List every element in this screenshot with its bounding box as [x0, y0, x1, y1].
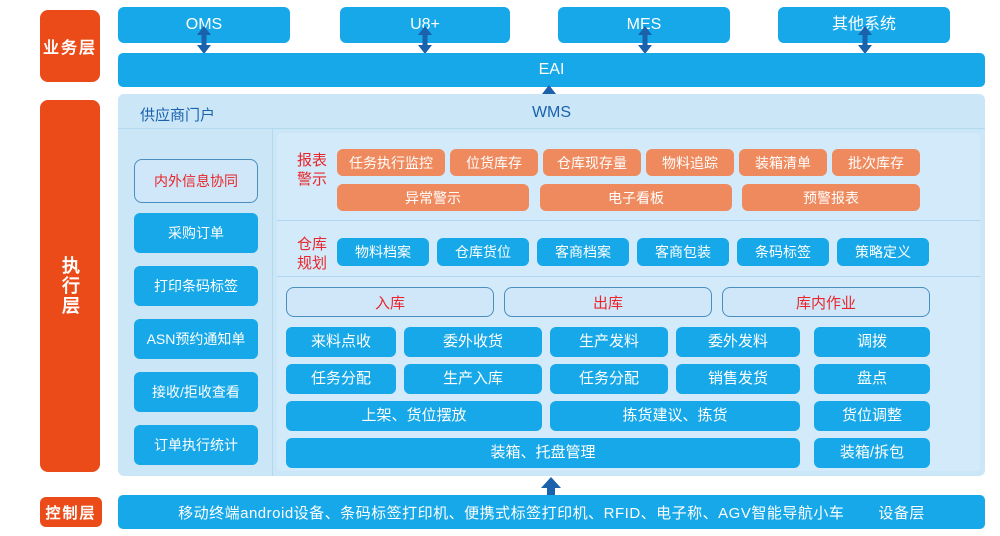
report-dashboard-label: 电子看板 — [608, 188, 664, 208]
ops-header-internal[interactable]: 库内作业 — [722, 287, 930, 317]
report-exception-alert[interactable]: 异常警示 — [337, 184, 529, 211]
report-material-tracking-label: 物料追踪 — [662, 153, 718, 173]
report-dashboard[interactable]: 电子看板 — [540, 184, 732, 211]
plan-warehouse-location-label: 仓库货位 — [455, 244, 511, 260]
control-layer-device-layer-label: 设备层 — [878, 502, 925, 523]
plan-customer-packaging-label: 客商包装 — [655, 244, 711, 260]
module-internal-external-coordination-label: 内外信息协同 — [154, 171, 238, 191]
op-putaway-placement-label: 上架、货位摆放 — [361, 407, 466, 424]
plan-barcode-label-text: 条码标签 — [755, 244, 811, 260]
section-label-warehouse-line1: 仓库 — [287, 236, 337, 255]
module-order-execution-stats[interactable]: 订单执行统计 — [134, 425, 258, 465]
module-order-execution-stats-label: 订单执行统计 — [154, 437, 238, 453]
op-incoming-receipt[interactable]: 来料点收 — [286, 327, 396, 357]
op-picking-suggestion[interactable]: 拣货建议、拣货 — [550, 401, 800, 431]
op-location-adjust-label: 货位调整 — [842, 407, 902, 424]
report-warehouse-stock-label: 仓库现存量 — [557, 153, 627, 173]
report-packing-list-label: 装箱清单 — [755, 153, 811, 173]
module-receive-reject-view-label: 接收/拒收查看 — [152, 384, 240, 400]
section-label-warehouse-planning: 仓库 规划 — [287, 236, 337, 274]
op-task-assign-outbound-label: 任务分配 — [579, 370, 639, 387]
op-pack-unpack-label: 装箱/拆包 — [840, 444, 904, 461]
report-warning-report[interactable]: 预警报表 — [742, 184, 920, 211]
plan-barcode-label[interactable]: 条码标签 — [737, 238, 829, 266]
op-production-inbound[interactable]: 生产入库 — [404, 364, 542, 394]
ops-header-inbound[interactable]: 入库 — [286, 287, 494, 317]
section-label-report-alert: 报表 警示 — [287, 152, 337, 190]
report-warehouse-stock[interactable]: 仓库现存量 — [543, 149, 641, 176]
double-arrow-icon-oms — [195, 25, 213, 51]
layer-tag-business-label: 业务层 — [43, 34, 97, 58]
plan-material-archive-label: 物料档案 — [355, 244, 411, 260]
op-incoming-receipt-label: 来料点收 — [311, 333, 371, 350]
op-transfer[interactable]: 调拨 — [814, 327, 930, 357]
ops-header-internal-label: 库内作业 — [796, 292, 856, 313]
report-batch-inventory[interactable]: 批次库存 — [832, 149, 920, 176]
op-sales-shipment-label: 销售发货 — [708, 370, 768, 387]
op-packing-pallet-management-label: 装箱、托盘管理 — [490, 444, 595, 461]
arrow-up-icon-control — [540, 477, 562, 495]
control-layer-devices-label: 移动终端android设备、条码标签打印机、便携式标签打印机、RFID、电子称、… — [178, 502, 844, 523]
op-outsourced-issue-label: 委外发料 — [708, 333, 768, 350]
module-purchase-order[interactable]: 采购订单 — [134, 213, 258, 253]
wms-title: WMS — [118, 104, 985, 122]
report-batch-inventory-label: 批次库存 — [848, 153, 904, 173]
double-arrow-icon-other — [856, 25, 874, 51]
op-production-issue[interactable]: 生产发料 — [550, 327, 668, 357]
module-asn-notice-label: ASN预约通知单 — [147, 331, 246, 347]
section-label-warehouse-line2: 规划 — [287, 255, 337, 274]
op-outsourced-receipt-label: 委外收货 — [443, 333, 503, 350]
double-arrow-icon-u8 — [416, 25, 434, 51]
panel-divider-vertical — [272, 128, 273, 476]
op-production-inbound-label: 生产入库 — [443, 370, 503, 387]
report-task-monitor-label: 任务执行监控 — [349, 153, 433, 173]
report-material-tracking[interactable]: 物料追踪 — [646, 149, 734, 176]
control-layer-bar[interactable]: 移动终端android设备、条码标签打印机、便携式标签打印机、RFID、电子称、… — [118, 495, 985, 529]
zone-separator-1 — [277, 220, 980, 221]
section-label-report-line2: 警示 — [287, 171, 337, 190]
plan-strategy-definition[interactable]: 策略定义 — [837, 238, 929, 266]
op-transfer-label: 调拨 — [857, 333, 887, 350]
report-task-monitor[interactable]: 任务执行监控 — [337, 149, 445, 176]
diagram-root: 业务层 执行层 控制层 OMS U8+ MES 其他系统 EAI 供应商门户 W… — [0, 0, 1000, 536]
plan-warehouse-location[interactable]: 仓库货位 — [437, 238, 529, 266]
report-warning-report-label: 预警报表 — [803, 188, 859, 208]
plan-material-archive[interactable]: 物料档案 — [337, 238, 429, 266]
report-location-inventory[interactable]: 位货库存 — [450, 149, 538, 176]
zone-separator-2 — [277, 276, 980, 277]
plan-customer-archive[interactable]: 客商档案 — [537, 238, 629, 266]
op-task-assign-outbound[interactable]: 任务分配 — [550, 364, 668, 394]
plan-customer-archive-label: 客商档案 — [555, 244, 611, 260]
module-purchase-order-label: 采购订单 — [168, 225, 224, 241]
ops-header-outbound[interactable]: 出库 — [504, 287, 712, 317]
op-task-assign-inbound[interactable]: 任务分配 — [286, 364, 396, 394]
op-putaway-placement[interactable]: 上架、货位摆放 — [286, 401, 542, 431]
ops-header-outbound-label: 出库 — [593, 292, 623, 313]
panel-divider-horizontal — [118, 128, 985, 129]
report-location-inventory-label: 位货库存 — [466, 153, 522, 173]
op-picking-suggestion-label: 拣货建议、拣货 — [622, 407, 727, 424]
report-packing-list[interactable]: 装箱清单 — [739, 149, 827, 176]
module-print-barcode-label[interactable]: 打印条码标签 — [134, 266, 258, 306]
report-exception-alert-label: 异常警示 — [405, 188, 461, 208]
layer-tag-control: 控制层 — [40, 497, 102, 527]
op-packing-pallet-management[interactable]: 装箱、托盘管理 — [286, 438, 800, 468]
op-stocktaking[interactable]: 盘点 — [814, 364, 930, 394]
op-outsourced-issue[interactable]: 委外发料 — [676, 327, 800, 357]
op-pack-unpack[interactable]: 装箱/拆包 — [814, 438, 930, 468]
eai-bus-label: EAI — [118, 53, 985, 87]
layer-tag-control-label: 控制层 — [45, 502, 96, 523]
module-receive-reject-view[interactable]: 接收/拒收查看 — [134, 372, 258, 412]
plan-customer-packaging[interactable]: 客商包装 — [637, 238, 729, 266]
layer-tag-business: 业务层 — [40, 10, 100, 82]
op-outsourced-receipt[interactable]: 委外收货 — [404, 327, 542, 357]
layer-tag-execution: 执行层 — [40, 100, 100, 472]
op-stocktaking-label: 盘点 — [857, 370, 887, 387]
op-sales-shipment[interactable]: 销售发货 — [676, 364, 800, 394]
layer-tag-execution-label: 执行层 — [57, 256, 83, 316]
op-location-adjust[interactable]: 货位调整 — [814, 401, 930, 431]
ops-header-inbound-label: 入库 — [375, 292, 405, 313]
module-asn-notice[interactable]: ASN预约通知单 — [134, 319, 258, 359]
plan-strategy-definition-label: 策略定义 — [855, 244, 911, 260]
module-print-barcode-label-text: 打印条码标签 — [154, 278, 238, 294]
double-arrow-icon-mes — [636, 25, 654, 51]
section-label-report-line1: 报表 — [287, 152, 337, 171]
op-production-issue-label: 生产发料 — [579, 333, 639, 350]
op-task-assign-inbound-label: 任务分配 — [311, 370, 371, 387]
module-internal-external-coordination[interactable]: 内外信息协同 — [134, 159, 258, 203]
